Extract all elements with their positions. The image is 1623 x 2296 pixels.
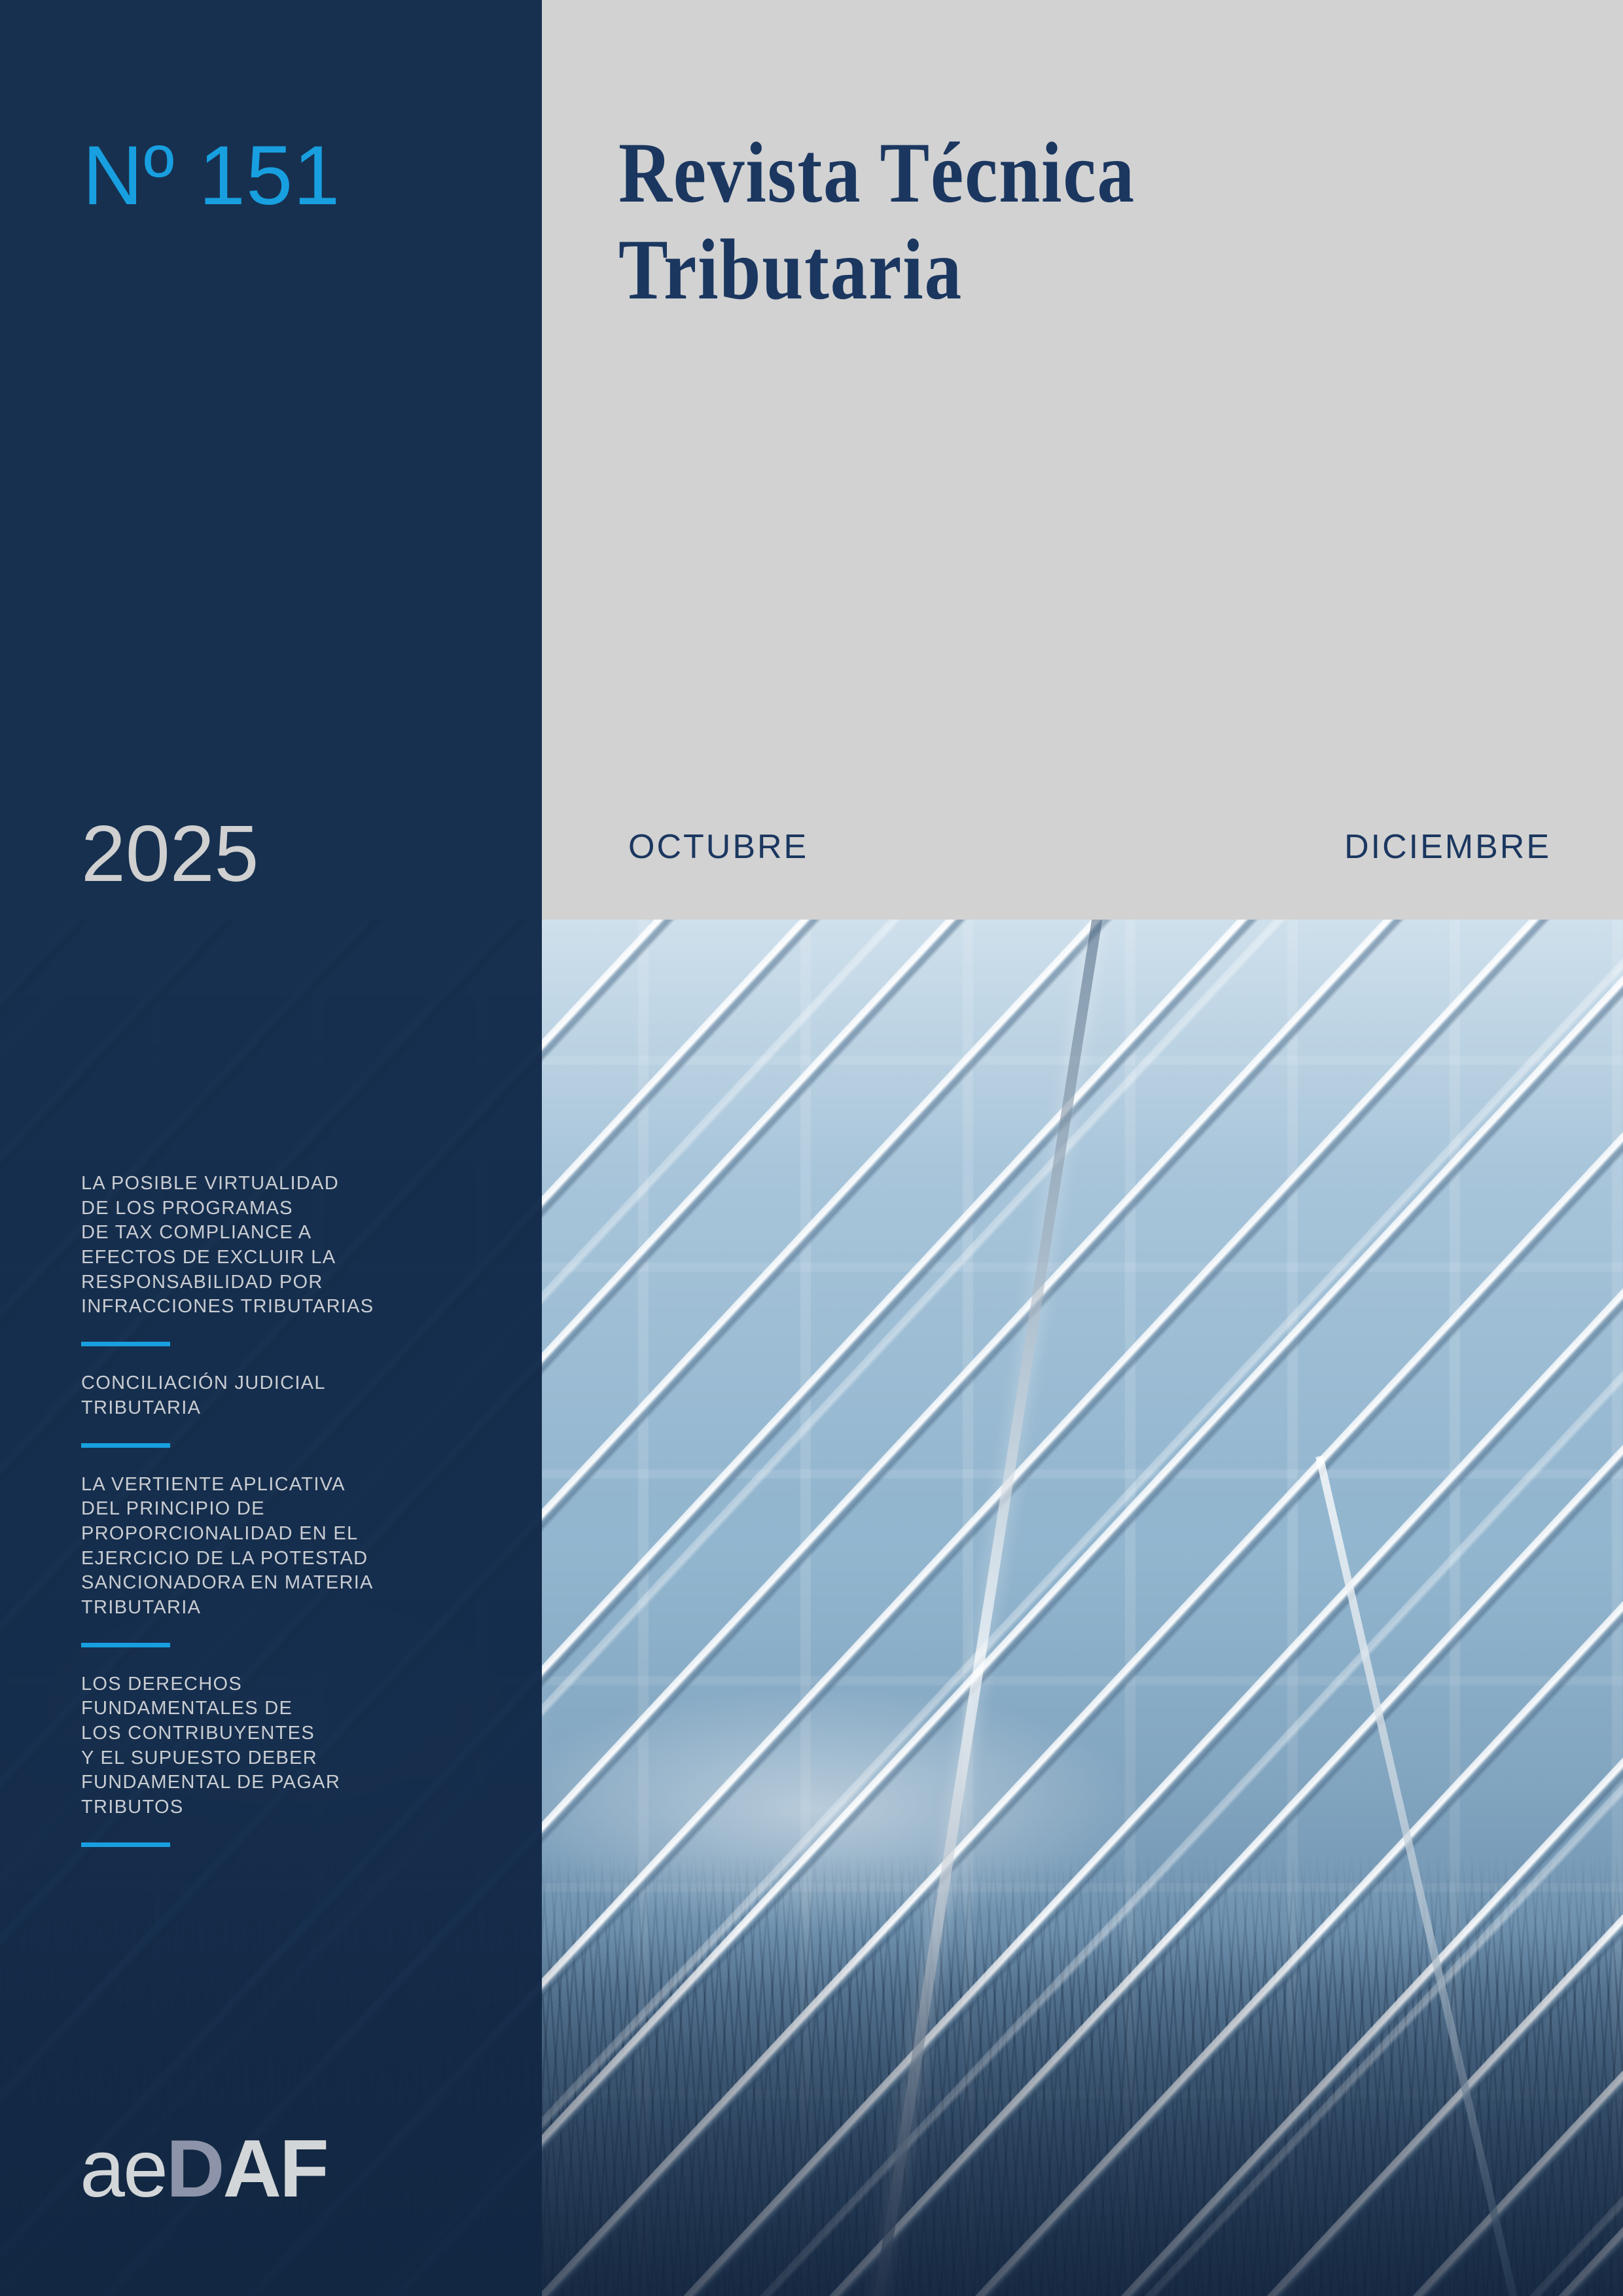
cover-header-band: Nº 151 Revista Técnica Tributaria 2025 O… (0, 0, 1623, 920)
month-end: DICIEMBRE (1344, 830, 1551, 864)
logo-part-ae: ae (80, 2124, 166, 2214)
issue-month-range: OCTUBRE DICIEMBRE (628, 830, 1551, 864)
masthead-line-1: Revista Técnica (618, 124, 1350, 221)
magazine-cover: Nº 151 Revista Técnica Tributaria 2025 O… (0, 0, 1623, 2296)
list-item[interactable]: LA VERTIENTE APLICATIVA DEL PRINCIPIO DE… (81, 1473, 500, 1647)
article-divider (81, 1842, 170, 1847)
list-item[interactable]: LA POSIBLE VIRTUALIDAD DE LOS PROGRAMAS … (81, 1172, 500, 1346)
article-list: LA POSIBLE VIRTUALIDAD DE LOS PROGRAMAS … (81, 1172, 500, 1872)
issue-number-text: Nº 151 (82, 129, 340, 223)
article-title: CONCILIACIÓN JUDICIAL TRIBUTARIA (81, 1371, 500, 1420)
logo-part-af: AF (223, 2124, 327, 2214)
logo-part-d: D (166, 2124, 223, 2214)
list-item[interactable]: LOS DERECHOS FUNDAMENTALES DE LOS CONTRI… (81, 1672, 500, 1847)
list-item[interactable]: CONCILIACIÓN JUDICIAL TRIBUTARIA (81, 1371, 500, 1447)
issue-year: 2025 (81, 814, 259, 893)
article-divider (81, 1443, 170, 1448)
masthead-line-2: Tributaria (618, 221, 1350, 318)
article-title: LA POSIBLE VIRTUALIDAD DE LOS PROGRAMAS … (81, 1172, 500, 1319)
aedaf-logo: aeDAF (80, 2128, 327, 2210)
article-title: LOS DERECHOS FUNDAMENTALES DE LOS CONTRI… (81, 1672, 500, 1820)
masthead-title: Revista Técnica Tributaria (618, 124, 1350, 318)
article-title: LA VERTIENTE APLICATIVA DEL PRINCIPIO DE… (81, 1473, 500, 1621)
article-divider (81, 1643, 170, 1647)
month-start: OCTUBRE (628, 830, 808, 864)
issue-number: Nº 151 (82, 134, 340, 218)
article-divider (81, 1342, 170, 1346)
